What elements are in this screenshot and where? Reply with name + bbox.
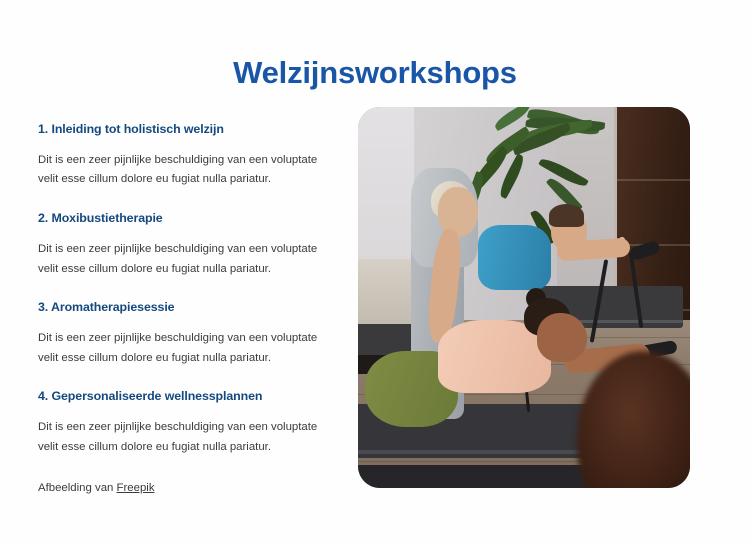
section-item: 1. Inleiding tot holistisch welzijn Dit … [38,122,330,190]
page-root: Welzijnsworkshops 1. Inleiding tot holis… [0,0,750,542]
section-body: Dit is een zeer pijnlijke beschuldiging … [38,329,323,368]
hero-image-canvas [358,107,690,488]
hero-image [358,107,690,488]
section-heading: 1. Inleiding tot holistisch welzijn [38,122,330,137]
section-body: Dit is een zeer pijnlijke beschuldiging … [38,240,323,279]
sections-column: 1. Inleiding tot holistisch welzijn Dit … [38,122,330,498]
section-item: 2. Moxibustietherapie Dit is een zeer pi… [38,211,330,279]
image-credit: Afbeelding van Freepik [38,479,330,497]
section-heading: 4. Gepersonaliseerde wellnessplannen [38,389,330,404]
page-title: Welzijnsworkshops [0,55,750,91]
section-item: 3. Aromatherapiesessie Dit is een zeer p… [38,300,330,368]
section-heading: 2. Moxibustietherapie [38,211,330,226]
freepik-link[interactable]: Freepik [117,482,155,494]
section-heading: 3. Aromatherapiesessie [38,300,330,315]
section-item: 4. Gepersonaliseerde wellnessplannen Dit… [38,389,330,457]
section-body: Dit is een zeer pijnlijke beschuldiging … [38,418,323,457]
section-body: Dit is een zeer pijnlijke beschuldiging … [38,151,323,190]
image-credit-prefix: Afbeelding van [38,482,117,494]
